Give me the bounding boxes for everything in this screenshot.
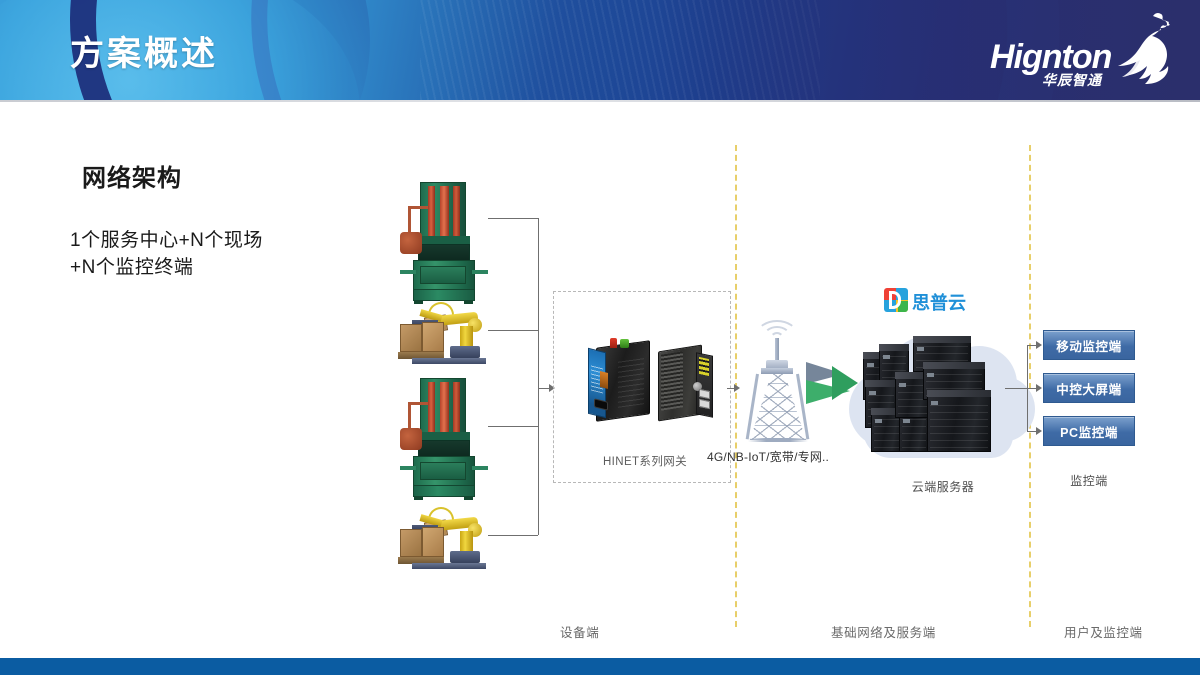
press-motor bbox=[400, 232, 422, 254]
press-arm-right bbox=[472, 270, 488, 274]
gateway-antenna-connector-red bbox=[610, 338, 617, 348]
device-baling-press-2 bbox=[398, 378, 488, 498]
section-body-line-1: 1个服务中心+N个现场 bbox=[70, 228, 263, 255]
monitor-arrowhead bbox=[1036, 341, 1042, 349]
cloud-icon bbox=[845, 318, 1041, 470]
device-baling-press-1 bbox=[398, 182, 488, 302]
press-arm-left bbox=[400, 270, 416, 274]
press-cylinder bbox=[440, 382, 449, 434]
monitor-box-central-screen[interactable]: 中控大屏端 bbox=[1043, 373, 1135, 403]
zone-label-user: 用户及监控端 bbox=[1064, 622, 1143, 641]
device-robot-arm-1 bbox=[398, 300, 494, 366]
sipuyun-logo: 思普云 bbox=[884, 287, 980, 313]
press-pipe bbox=[408, 402, 428, 405]
robot-base bbox=[450, 346, 480, 358]
press-cylinder bbox=[428, 382, 435, 434]
tower-platform bbox=[761, 368, 793, 374]
section-title: 网络架构 bbox=[82, 158, 182, 193]
rack-led bbox=[875, 419, 882, 423]
cardboard-box bbox=[422, 322, 444, 352]
bracket-spine bbox=[538, 218, 539, 535]
monitor-arrowhead bbox=[1036, 427, 1042, 435]
tower-base bbox=[748, 438, 808, 442]
rack-led bbox=[927, 373, 934, 377]
rack-top bbox=[879, 344, 909, 351]
gateway-vents bbox=[618, 356, 644, 408]
network-label: 4G/NB-IoT/宽带/专网.. bbox=[707, 448, 829, 465]
press-arm-left bbox=[400, 466, 416, 470]
brand-logo: Hignton 华辰智通 bbox=[990, 12, 1180, 92]
cloud-label: 云端服务器 bbox=[862, 478, 1024, 495]
brand-wordmark-cn: 华辰智通 bbox=[1042, 70, 1102, 90]
cardboard-box bbox=[400, 324, 422, 352]
press-cylinder bbox=[453, 382, 460, 434]
server-rack bbox=[927, 390, 991, 452]
cardboard-box bbox=[400, 529, 422, 557]
press-motor bbox=[400, 428, 422, 450]
gateway-device-a bbox=[588, 338, 650, 420]
press-chamber bbox=[418, 440, 470, 457]
monitor-arrowhead bbox=[1036, 384, 1042, 392]
antelope-logo-icon bbox=[1104, 12, 1178, 90]
rack-led bbox=[883, 355, 890, 359]
sipuyun-logo-icon bbox=[884, 288, 908, 312]
gateway-terminal-block-green bbox=[620, 339, 629, 348]
page-title: 方案概述 bbox=[70, 26, 218, 75]
zone-label-network: 基础网络及服务端 bbox=[831, 622, 936, 641]
press-cylinder bbox=[453, 186, 460, 238]
gateway-device-b bbox=[658, 348, 714, 420]
rack-top bbox=[927, 390, 991, 397]
rack-led bbox=[869, 391, 876, 395]
slide-canvas: 方案概述 Hignton 华辰智通 网络架构 1个服务中心+N个现场 +N个监控… bbox=[0, 0, 1200, 675]
rack-led bbox=[899, 383, 906, 387]
monitor-box-pc[interactable]: PC监控端 bbox=[1043, 416, 1135, 446]
press-door bbox=[420, 266, 466, 284]
slide-header-banner: 方案概述 Hignton 华辰智通 bbox=[0, 0, 1200, 100]
rack-slots bbox=[930, 400, 988, 448]
monitor-box-mobile[interactable]: 移动监控端 bbox=[1043, 330, 1135, 360]
monitor-trunk bbox=[1005, 388, 1027, 389]
rack-led bbox=[917, 347, 924, 351]
press-pipe bbox=[408, 206, 428, 209]
robot-base bbox=[450, 551, 480, 563]
robot-column bbox=[460, 326, 473, 348]
section-body-line-2: +N个监控终端 bbox=[70, 255, 263, 282]
bracket-branch bbox=[488, 426, 538, 427]
bracket-branch bbox=[488, 330, 538, 331]
bracket-branch bbox=[488, 535, 538, 536]
rack-top bbox=[865, 380, 897, 387]
robot-rail bbox=[412, 563, 486, 569]
sipuyun-brand-text: 思普云 bbox=[912, 289, 966, 315]
section-body: 1个服务中心+N个现场 +N个监控终端 bbox=[70, 228, 263, 282]
press-foot-right bbox=[464, 496, 473, 500]
rack-top bbox=[913, 336, 971, 343]
robot-column bbox=[460, 531, 473, 553]
zone-label-device: 设备端 bbox=[560, 622, 599, 641]
cell-tower-icon bbox=[742, 330, 814, 450]
gateway-to-network-arrowhead bbox=[734, 384, 740, 392]
press-cylinder bbox=[428, 186, 435, 238]
gateway-label: HINET系列网关 bbox=[560, 453, 730, 469]
rack-top bbox=[923, 362, 985, 369]
cardboard-box bbox=[422, 527, 444, 557]
device-robot-arm-2 bbox=[398, 505, 494, 571]
press-door bbox=[420, 462, 466, 480]
rack-led bbox=[931, 401, 938, 405]
press-cylinder bbox=[440, 186, 449, 238]
logo-p-stem bbox=[889, 291, 892, 309]
rack-led bbox=[903, 419, 910, 423]
rack-led bbox=[867, 363, 874, 367]
header-underline bbox=[0, 100, 1200, 102]
robot-rail bbox=[412, 358, 486, 364]
monitor-group-label: 监控端 bbox=[1043, 472, 1135, 489]
footer-bar bbox=[0, 658, 1200, 675]
gateway-vents bbox=[661, 351, 683, 410]
gateway-sim-slot bbox=[600, 371, 608, 389]
bracket-branch bbox=[488, 218, 538, 219]
press-chamber bbox=[418, 244, 470, 261]
gateway-led-indicators bbox=[699, 357, 709, 376]
press-foot-left bbox=[414, 496, 423, 500]
press-arm-right bbox=[472, 466, 488, 470]
